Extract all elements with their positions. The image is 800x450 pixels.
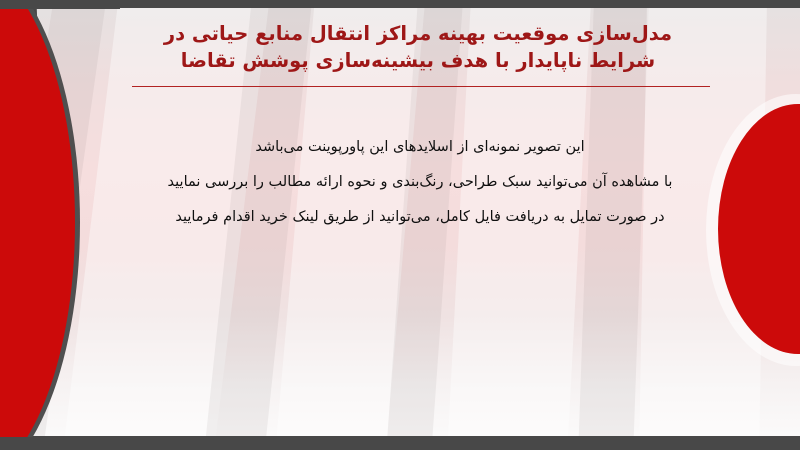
- slide-body-text: این تصویر نمونه‌ای از اسلایدهای این پاور…: [120, 130, 720, 235]
- lens-mask-top: [0, 0, 120, 9]
- slide-body-line-2: با مشاهده آن می‌توانید سبک طراحی، رنگ‌بن…: [120, 165, 720, 200]
- slide-title: مدل‌سازی موقعیت بهینه مراکز انتقال منابع…: [120, 20, 716, 74]
- slide-title-line-2: شرایط ناپایدار با هدف بیشینه‌سازی پوشش ت…: [120, 47, 716, 74]
- lens-mask-bottom: [0, 437, 120, 450]
- presentation-slide: مدل‌سازی موقعیت بهینه مراکز انتقال منابع…: [0, 0, 800, 450]
- slide-title-line-1: مدل‌سازی موقعیت بهینه مراکز انتقال منابع…: [120, 20, 716, 47]
- slide-content-panel: مدل‌سازی موقعیت بهینه مراکز انتقال منابع…: [0, 8, 800, 436]
- title-underline-rule: [132, 86, 710, 87]
- slide-body-line-3: در صورت تمایل به دریافت فایل کامل، می‌تو…: [120, 200, 720, 235]
- slide-body-line-1: این تصویر نمونه‌ای از اسلایدهای این پاور…: [120, 130, 720, 165]
